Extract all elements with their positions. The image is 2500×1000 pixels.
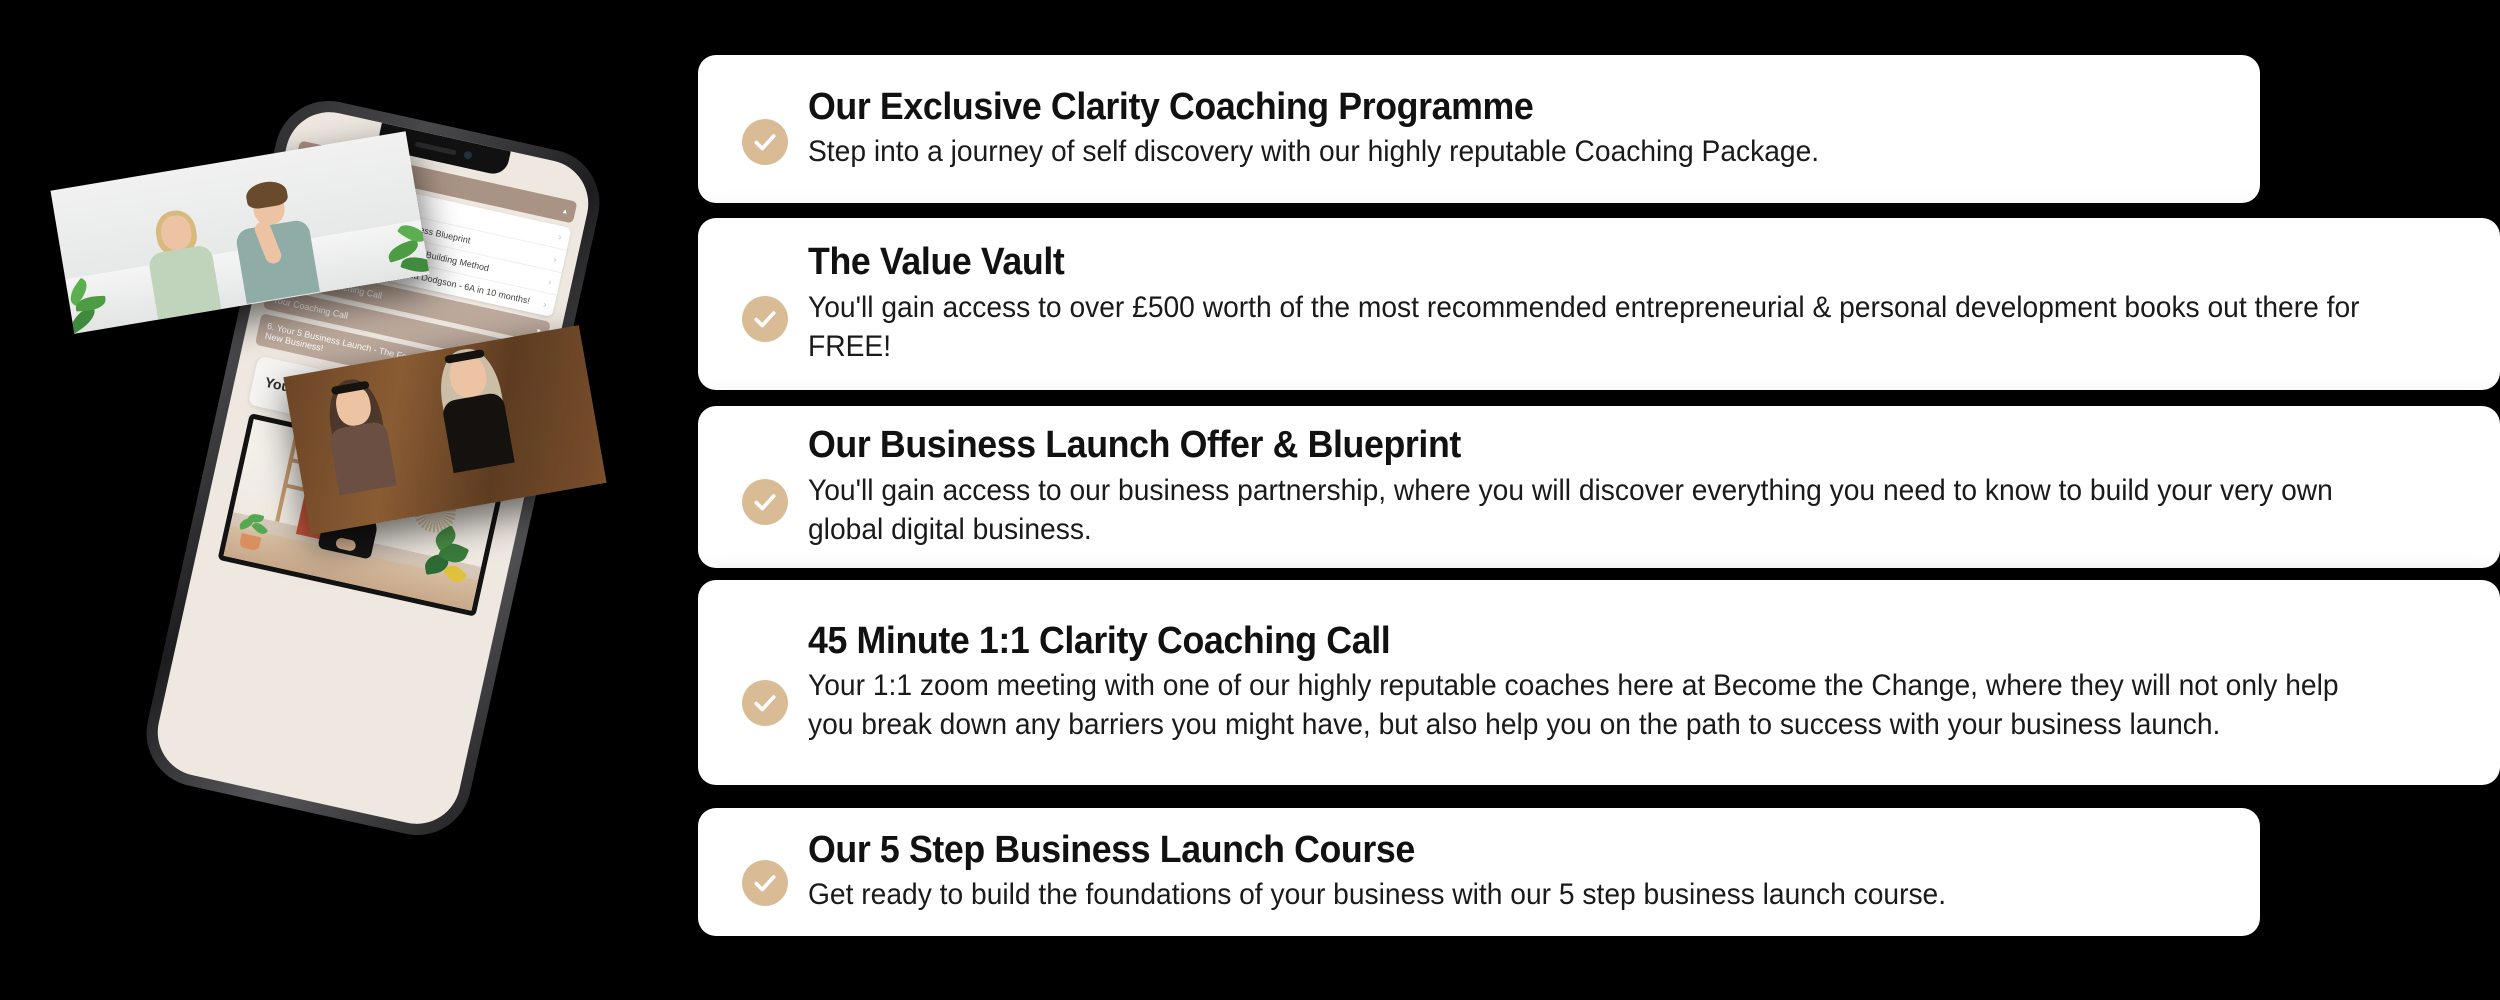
benefit-card[interactable]: Our 5 Step Business Launch Course Get re… bbox=[698, 808, 2260, 936]
promo-banner: 3. Your Bu... ▴ Introducing our Partners… bbox=[0, 0, 2500, 1000]
benefit-title: 45 Minute 1:1 Clarity Coaching Call bbox=[808, 621, 2367, 662]
check-circle-icon bbox=[742, 479, 788, 525]
chevron-up-icon: ▴ bbox=[562, 206, 568, 216]
benefit-card[interactable]: The Value Vault You'll gain access to ov… bbox=[698, 218, 2500, 390]
benefit-body: Your 1:1 zoom meeting with one of our hi… bbox=[808, 666, 2367, 744]
benefit-body: You'll gain access to our business partn… bbox=[808, 471, 2367, 549]
chevron-right-icon: › bbox=[542, 299, 547, 309]
chevron-right-icon: › bbox=[552, 254, 557, 264]
benefit-card[interactable]: Our Exclusive Clarity Coaching Programme… bbox=[698, 55, 2260, 203]
check-circle-icon bbox=[742, 296, 788, 342]
benefit-title: The Value Vault bbox=[808, 242, 2367, 283]
presenter-figure-left bbox=[305, 378, 420, 532]
benefit-body: You'll gain access to over £500 worth of… bbox=[808, 288, 2367, 366]
benefit-body: Step into a journey of self discovery wi… bbox=[808, 132, 2141, 171]
plant-decor bbox=[365, 204, 430, 283]
check-circle-icon bbox=[742, 860, 788, 906]
presenter-figure-right bbox=[415, 347, 540, 512]
benefit-title: Our Exclusive Clarity Coaching Programme bbox=[808, 87, 2141, 128]
benefit-title: Our Business Launch Offer & Blueprint bbox=[808, 425, 2367, 466]
benefit-title: Our 5 Step Business Launch Course bbox=[808, 830, 2141, 871]
check-circle-icon bbox=[742, 119, 788, 165]
presenter-figure-male bbox=[222, 183, 327, 306]
check-circle-icon bbox=[742, 680, 788, 726]
phone-mockup-group: 3. Your Bu... ▴ Introducing our Partners… bbox=[40, 70, 700, 930]
chevron-right-icon: › bbox=[547, 277, 552, 287]
benefit-body: Get ready to build the foundations of yo… bbox=[808, 875, 2141, 914]
presenter-figure-female bbox=[135, 209, 228, 321]
front-camera-icon bbox=[463, 150, 473, 160]
chevron-right-icon: › bbox=[557, 232, 562, 242]
benefit-card[interactable]: 45 Minute 1:1 Clarity Coaching Call Your… bbox=[698, 580, 2500, 785]
benefit-card[interactable]: Our Business Launch Offer & Blueprint Yo… bbox=[698, 406, 2500, 568]
earpiece-speaker bbox=[415, 141, 457, 155]
plant-decor bbox=[59, 255, 130, 333]
